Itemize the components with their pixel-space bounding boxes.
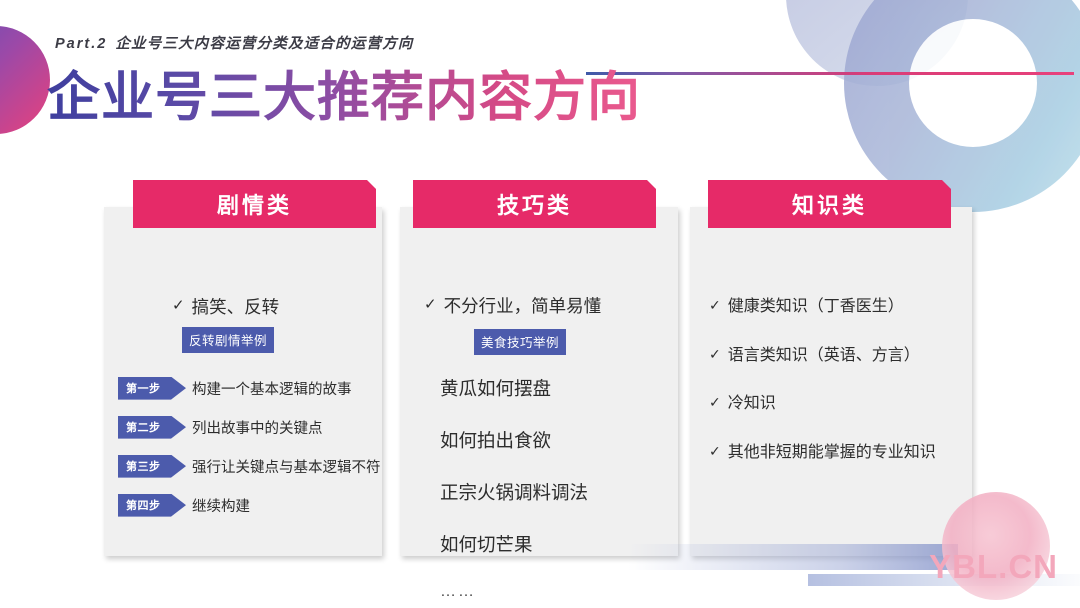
- card-drama-tag-wrap: 反转剧情举例: [182, 327, 368, 353]
- check-icon: ✓: [424, 295, 437, 315]
- step-badge: 第三步: [118, 455, 186, 478]
- card-skills-header: 技巧类: [413, 180, 656, 228]
- page-title: 企业号三大推荐内容方向: [47, 55, 641, 131]
- check-icon: ✓: [709, 393, 721, 412]
- step-text: 构建一个基本逻辑的故事: [192, 378, 352, 399]
- step-text: 列出故事中的关键点: [192, 417, 323, 438]
- list-item: ✓ 语言类知识（英语、方言）: [709, 345, 958, 367]
- card-drama-body: ✓ 搞笑、反转 反转剧情举例 第一步 构建一个基本逻辑的故事 第二步 列出故事中…: [104, 282, 382, 556]
- list-item: 正宗火锅调料调法: [440, 479, 664, 505]
- watermark-label: YBL.CN: [929, 548, 1058, 586]
- list-item-label: 其他非短期能掌握的专业知识: [728, 442, 936, 464]
- step-row: 第四步 继续构建: [118, 494, 368, 517]
- card-knowledge: ✓ 健康类知识（丁香医生） ✓ 语言类知识（英语、方言） ✓ 冷知识 ✓ 其他非…: [690, 207, 972, 556]
- slide-kicker: Part.2企业号三大内容运营分类及适合的运营方向: [55, 32, 414, 53]
- list-item-label: 语言类知识（英语、方言）: [728, 345, 920, 367]
- step-row: 第二步 列出故事中的关键点: [118, 416, 368, 439]
- step-badge: 第一步: [118, 377, 186, 400]
- list-item: ✓ 健康类知识（丁香医生）: [709, 296, 958, 318]
- check-icon: ✓: [172, 296, 185, 316]
- check-icon: ✓: [709, 345, 721, 364]
- step-text: 强行让关键点与基本逻辑不符: [192, 456, 381, 477]
- list-item-label: 冷知识: [728, 393, 776, 415]
- step-badge: 第二步: [118, 416, 186, 439]
- title-divider-line: [586, 72, 1074, 75]
- card-knowledge-list: ✓ 健康类知识（丁香医生） ✓ 语言类知识（英语、方言） ✓ 冷知识 ✓ 其他非…: [704, 282, 958, 463]
- card-knowledge-header: 知识类: [708, 180, 951, 228]
- card-drama-bullet: ✓ 搞笑、反转: [118, 296, 368, 320]
- list-item: ✓ 其他非短期能掌握的专业知识: [709, 442, 958, 464]
- card-drama-steps: 第一步 构建一个基本逻辑的故事 第二步 列出故事中的关键点 第三步 强行让关键点…: [118, 377, 368, 517]
- gradient-bar-decoration-a: [628, 544, 958, 570]
- check-icon: ✓: [709, 296, 721, 315]
- card-drama-header: 剧情类: [133, 180, 376, 228]
- list-item: 黄瓜如何摆盘: [440, 375, 664, 401]
- card-skills-list: 黄瓜如何摆盘 如何拍出食欲 正宗火锅调料调法 如何切芒果 ……: [414, 375, 664, 601]
- list-item-label: 健康类知识（丁香医生）: [728, 296, 904, 318]
- kicker-text: 企业号三大内容运营分类及适合的运营方向: [115, 36, 413, 52]
- list-item: 如何拍出食欲: [440, 427, 664, 453]
- step-row: 第一步 构建一个基本逻辑的故事: [118, 377, 368, 400]
- step-badge: 第四步: [118, 494, 186, 517]
- card-skills-bullet-label: 不分行业，简单易懂: [444, 295, 602, 319]
- slide-canvas: Part.2企业号三大内容运营分类及适合的运营方向 企业号三大推荐内容方向 ✓ …: [0, 0, 1080, 608]
- list-item-ellipsis: ……: [440, 583, 664, 601]
- step-row: 第三步 强行让关键点与基本逻辑不符: [118, 455, 368, 478]
- card-skills: ✓ 不分行业，简单易懂 美食技巧举例 黄瓜如何摆盘 如何拍出食欲 正宗火锅调料调…: [400, 207, 678, 556]
- gradient-circle-decoration-left: [0, 26, 50, 134]
- card-drama-tag: 反转剧情举例: [182, 327, 274, 353]
- kicker-part-label: Part.2: [55, 36, 107, 52]
- card-drama-bullet-label: 搞笑、反转: [192, 296, 280, 320]
- check-icon: ✓: [709, 442, 721, 461]
- card-drama: ✓ 搞笑、反转 反转剧情举例 第一步 构建一个基本逻辑的故事 第二步 列出故事中…: [104, 207, 382, 556]
- step-text: 继续构建: [192, 495, 250, 516]
- card-skills-body: ✓ 不分行业，简单易懂 美食技巧举例 黄瓜如何摆盘 如何拍出食欲 正宗火锅调料调…: [400, 282, 678, 556]
- card-skills-tag-wrap: 美食技巧举例: [474, 329, 664, 355]
- card-skills-bullet: ✓ 不分行业，简单易懂: [414, 295, 664, 319]
- card-knowledge-body: ✓ 健康类知识（丁香医生） ✓ 语言类知识（英语、方言） ✓ 冷知识 ✓ 其他非…: [690, 282, 972, 556]
- list-item: ✓ 冷知识: [709, 393, 958, 415]
- card-skills-tag: 美食技巧举例: [474, 329, 566, 355]
